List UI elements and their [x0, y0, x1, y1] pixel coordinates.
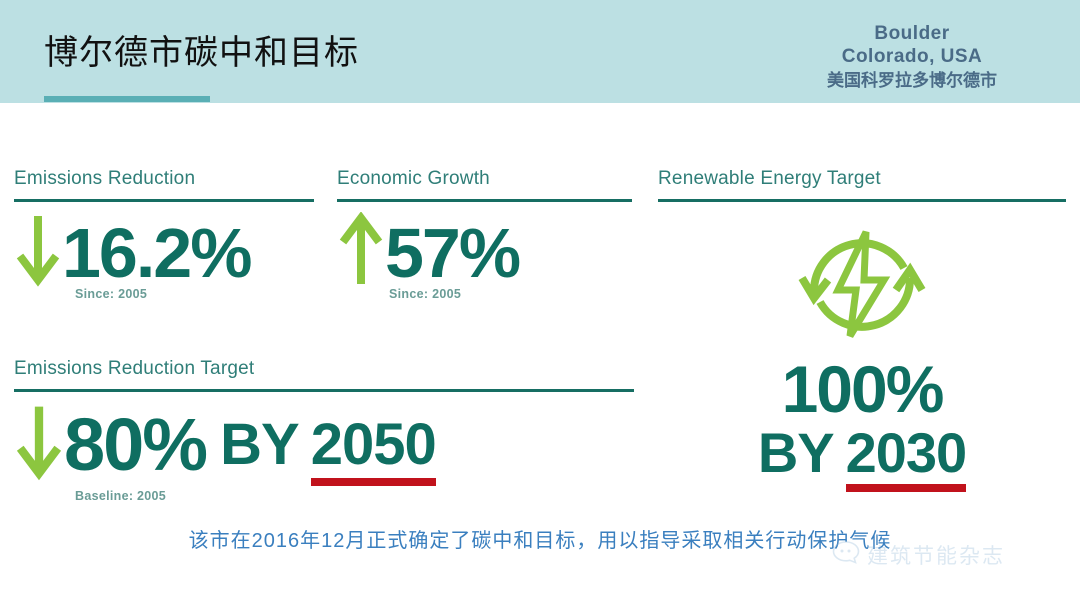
stat-value: 57% — [385, 218, 519, 288]
renewable-figures: 100% BY 2030 — [658, 356, 1066, 481]
location-block: Boulder Colorado, USA 美国科罗拉多博尔德市 — [762, 22, 1062, 92]
renewable-year: 2030 — [846, 421, 967, 484]
year-underline — [846, 484, 967, 492]
stat-card-emissions-reduction: Emissions Reduction 16.2% Since: 2005 — [14, 168, 314, 301]
location-line-cn: 美国科罗拉多博尔德市 — [762, 69, 1062, 92]
title-accent-bar — [44, 96, 210, 102]
location-line2: Colorado, USA — [762, 45, 1062, 68]
arrow-down-icon — [14, 212, 62, 293]
stat-year: 2050 — [311, 412, 436, 477]
stat-by-word: BY — [220, 416, 299, 474]
renewable-year-wrap: 2030 — [846, 425, 967, 481]
stat-label: Emissions Reduction Target — [14, 358, 634, 380]
stat-value: 16.2% — [62, 218, 250, 288]
stat-label: Renewable Energy Target — [658, 168, 1066, 190]
stat-label: Economic Growth — [337, 168, 632, 190]
location-line1: Boulder — [762, 22, 1062, 45]
stat-card-emissions-reduction-target: Emissions Reduction Target 80% BY 2050 B… — [14, 358, 634, 503]
slide-canvas: 博尔德市碳中和目标 Boulder Colorado, USA 美国科罗拉多博尔… — [0, 0, 1080, 607]
stat-card-economic-growth: Economic Growth 57% Since: 2005 — [337, 168, 632, 301]
divider — [658, 199, 1066, 202]
stat-value-row: 57% — [337, 212, 632, 293]
footer-note: 该市在2016年12月正式确定了碳中和目标，用以指导采取相关行动保护气候 — [0, 524, 1080, 553]
arrow-down-icon — [14, 402, 64, 487]
renewable-energy-icon — [658, 216, 1066, 352]
stat-card-renewable-energy-target: Renewable Energy Target 100% BY 2030 — [658, 168, 1066, 481]
stat-value-row: 16.2% — [14, 212, 314, 293]
stat-subtext: Baseline: 2005 — [75, 489, 634, 503]
divider — [14, 199, 314, 202]
renewable-value: 100% — [658, 356, 1066, 423]
arrow-up-icon — [337, 212, 385, 293]
divider — [14, 389, 634, 392]
stat-label: Emissions Reduction — [14, 168, 314, 190]
stat-value: 80% — [64, 408, 206, 482]
year-underline — [311, 478, 436, 486]
stat-year-wrap: 2050 — [311, 416, 436, 474]
renewable-by-row: BY 2030 — [758, 425, 966, 481]
page-title: 博尔德市碳中和目标 — [44, 32, 359, 74]
renewable-by-word: BY — [758, 425, 834, 481]
stat-value-row: 80% BY 2050 — [14, 402, 634, 487]
divider — [337, 199, 632, 202]
